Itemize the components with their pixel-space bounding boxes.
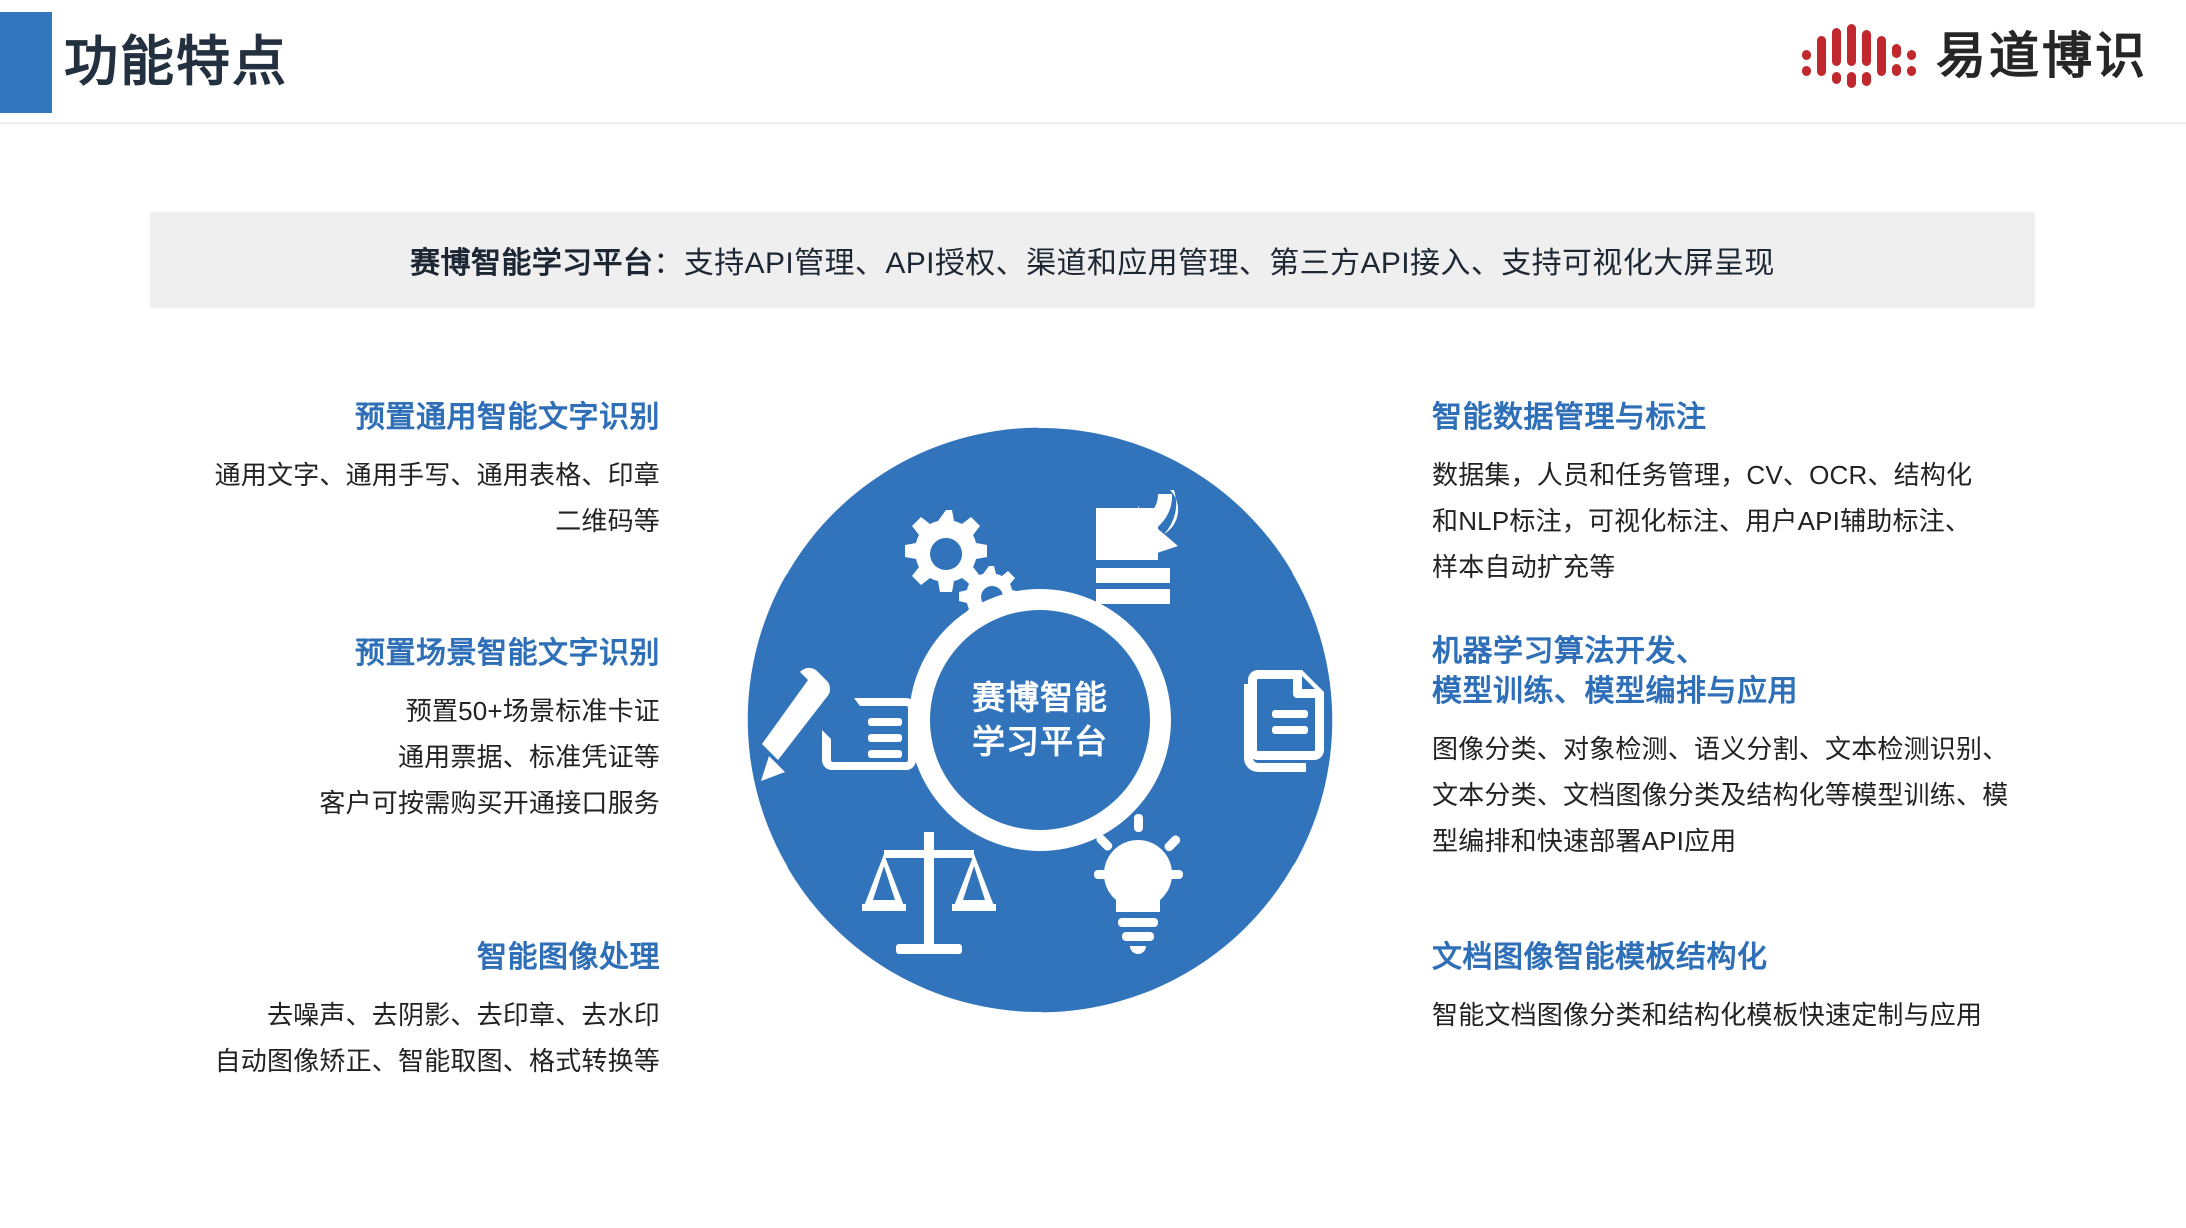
platform-petal-diagram: 赛博智能 学习平台 [700,380,1380,1060]
feature-body: 智能文档图像分类和结构化模板快速定制与应用 [1432,992,2072,1038]
feature-body: 图像分类、对象检测、语义分割、文本检测识别、 文本分类、文档图像分类及结构化等模… [1432,726,2072,864]
header-accent-bar [0,12,52,113]
feature-block-ocr-scene: 预置场景智能文字识别 预置50+场景标准卡证 通用票据、标准凭证等 客户可按需购… [100,634,660,826]
feature-title: 智能数据管理与标注 [1432,398,2072,438]
feature-title: 文档图像智能模板结构化 [1432,938,2072,978]
header-divider [0,122,2186,125]
platform-summary-banner: 赛博智能学习平台：支持API管理、API授权、渠道和应用管理、第三方API接入、… [150,212,2035,308]
brand-logo: 易道博识 [1800,22,2148,90]
feature-block-ml-development: 机器学习算法开发、 模型训练、模型编排与应用 图像分类、对象检测、语义分割、文本… [1432,632,2072,864]
platform-name: 赛博智能学习平台 [410,247,653,280]
feature-title: 预置通用智能文字识别 [100,398,660,438]
feature-block-image-processing: 智能图像处理 去噪声、去阴影、去印章、去水印 自动图像矫正、智能取图、格式转换等 [100,938,660,1084]
feature-block-doc-template: 文档图像智能模板结构化 智能文档图像分类和结构化模板快速定制与应用 [1432,938,2072,1038]
platform-summary-text: 赛博智能学习平台：支持API管理、API授权、渠道和应用管理、第三方API接入、… [410,238,1775,282]
feature-title: 预置场景智能文字识别 [100,634,660,674]
feature-body: 数据集，人员和任务管理，CV、OCR、结构化 和NLP标注，可视化标注、用户AP… [1432,452,2072,590]
feature-block-data-management: 智能数据管理与标注 数据集，人员和任务管理，CV、OCR、结构化 和NLP标注，… [1432,398,2072,590]
center-disc[interactable] [930,610,1150,830]
page-header: 功能特点 易道博识 [0,0,2186,124]
page-title: 功能特点 [64,14,288,110]
feature-block-ocr-general: 预置通用智能文字识别 通用文字、通用手写、通用表格、印章 二维码等 [100,398,660,544]
platform-capabilities: ：支持API管理、API授权、渠道和应用管理、第三方API接入、支持可视化大屏呈… [653,247,1774,280]
feature-body: 通用文字、通用手写、通用表格、印章 二维码等 [100,452,660,544]
sound-bars-logo-mark [1800,22,1918,90]
feature-title: 智能图像处理 [100,938,660,978]
feature-body: 预置50+场景标准卡证 通用票据、标准凭证等 客户可按需购买开通接口服务 [100,688,660,826]
logo-wordmark: 易道博识 [1936,31,2148,81]
feature-title: 机器学习算法开发、 模型训练、模型编排与应用 [1432,632,2072,712]
feature-body: 去噪声、去阴影、去印章、去水印 自动图像矫正、智能取图、格式转换等 [100,992,660,1084]
